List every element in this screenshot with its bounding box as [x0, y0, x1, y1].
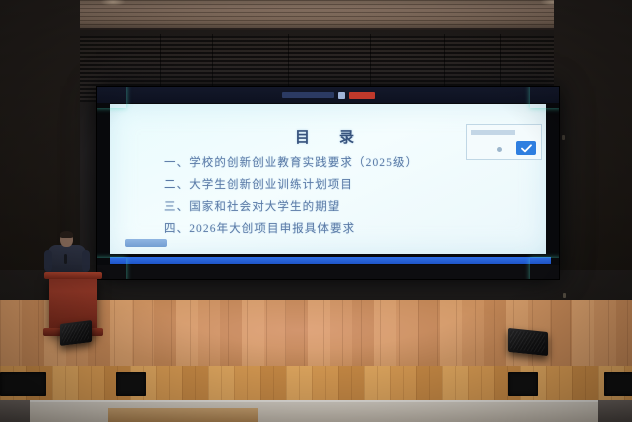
stage-monitor-right [508, 328, 548, 356]
front-floor [0, 400, 632, 422]
apron-vent-4 [604, 372, 632, 396]
ceiling-panel [0, 0, 632, 30]
control-radio-dot[interactable] [497, 147, 502, 152]
slide-list-item: 四、2026年大创项目申报具体要求 [164, 220, 418, 236]
app-icon[interactable] [338, 92, 345, 99]
wall-indicator-light-side [562, 135, 565, 140]
wall-right-section [554, 0, 632, 270]
os-taskbar[interactable] [110, 257, 551, 264]
presenter-arm-left [44, 250, 52, 272]
apron-vent-1 [0, 372, 46, 396]
toolbar-title-chip [282, 92, 334, 98]
slide-list-item: 二、大学生创新创业训练计划项目 [164, 176, 418, 192]
apron-vent-2 [116, 372, 146, 396]
presenter-arm-right [82, 250, 90, 272]
auditorium-scene: 目 录 一、学校的创新创业教育实践要求（2025级） 二、大学生创新创业训练计划… [0, 0, 632, 422]
floating-control-panel[interactable] [466, 124, 542, 160]
slide-list-item: 一、学校的创新创业教育实践要求（2025级） [164, 154, 418, 170]
screen-display-area: 目 录 一、学校的创新创业教育实践要求（2025级） 二、大学生创新创业训练计划… [97, 87, 559, 279]
apron-vent-3 [508, 372, 538, 396]
podium-top-surface [44, 272, 102, 279]
check-icon[interactable] [516, 141, 536, 155]
slide-list-item: 三、国家和社会对大学生的期望 [164, 198, 418, 214]
front-step [108, 408, 258, 422]
slide-canvas: 目 录 一、学校的创新创业教育实践要求（2025级） 二、大学生创新创业训练计划… [110, 104, 546, 254]
screen-footer-bar [97, 265, 559, 279]
presentation-screen[interactable]: 目 录 一、学校的创新创业教育实践要求（2025级） 二、大学生创新创业训练计划… [96, 86, 560, 280]
slide-contents-list: 一、学校的创新创业教育实践要求（2025级） 二、大学生创新创业训练计划项目 三… [164, 154, 418, 236]
wall-indicator-light-right [563, 293, 566, 298]
handheld-microphone-icon [64, 254, 67, 264]
control-input-field[interactable] [471, 130, 515, 135]
monitor-grille-left [62, 322, 89, 342]
monitor-grille-right [510, 330, 545, 353]
wall-left-section [0, 0, 80, 270]
ceiling-slats [0, 0, 632, 30]
record-button[interactable] [349, 92, 375, 99]
front-floor-seam [0, 400, 632, 402]
front-floor-right-edge [598, 400, 632, 422]
presentation-app-toolbar[interactable] [97, 87, 559, 103]
slide-corner-button[interactable] [125, 239, 167, 247]
presenter-hair [60, 231, 73, 238]
front-floor-left-edge [0, 400, 30, 422]
stage-monitor-left [60, 320, 92, 346]
